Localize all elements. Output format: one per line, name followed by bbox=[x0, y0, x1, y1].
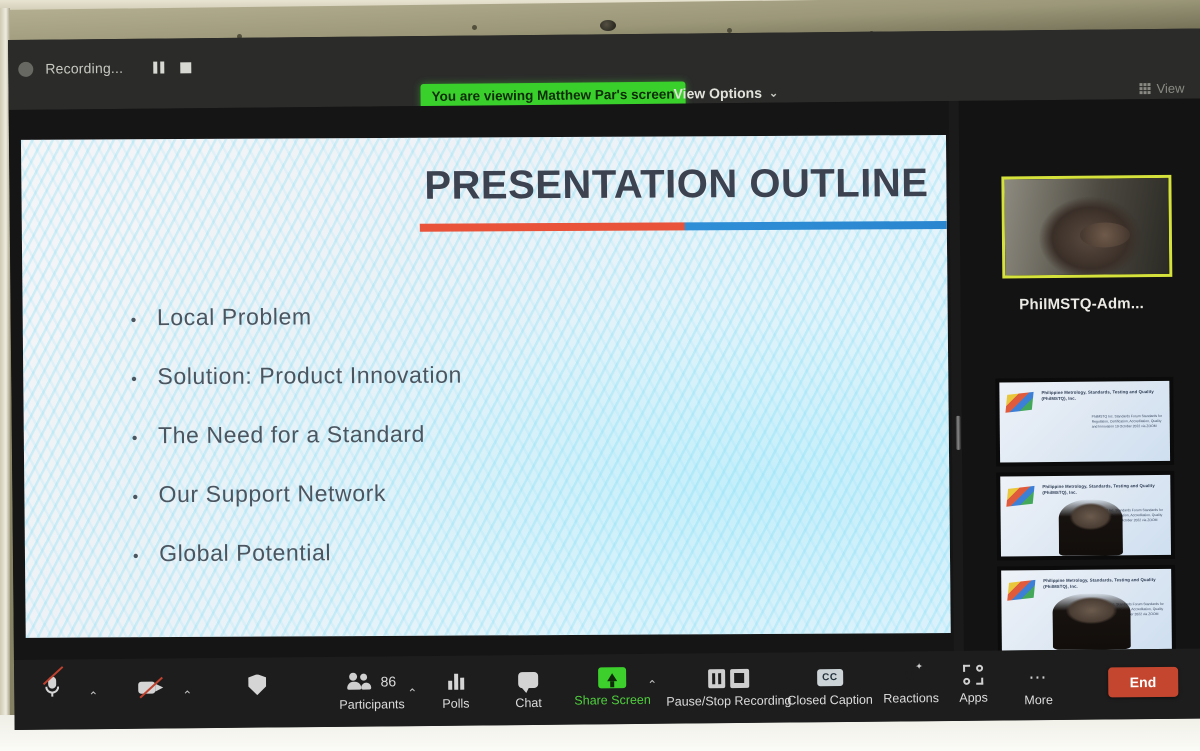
laptop-photo-frame: Recording... You are viewing Matthew Par… bbox=[0, 0, 1200, 751]
participant-thumbnail[interactable]: Philippine Metrology, Standards, Testing… bbox=[995, 377, 1174, 467]
participants-caret-icon[interactable]: ⌃ bbox=[407, 686, 417, 700]
bullet-dot-icon: • bbox=[132, 490, 138, 506]
participant-thumbnail[interactable]: Philippine Metrology, Standards, Testing… bbox=[996, 471, 1175, 561]
zoom-meeting-window: Recording... You are viewing Matthew Par… bbox=[8, 29, 1200, 730]
chat-button[interactable]: Chat bbox=[515, 669, 542, 710]
thumbnail-slide: Philippine Metrology, Standards, Testing… bbox=[1000, 475, 1171, 557]
recording-dot-icon bbox=[18, 61, 33, 76]
view-options-label: View Options bbox=[673, 85, 762, 102]
zoom-bottom-toolbar: ⌃ ⌃ 86 Participants ⌃ bbox=[14, 649, 1200, 730]
participants-label: Participants bbox=[339, 697, 404, 712]
recording-indicator-group: Recording... bbox=[18, 59, 191, 77]
view-button-label: View bbox=[1156, 81, 1184, 96]
bezel-dot bbox=[472, 25, 477, 30]
thumbnail-heading: Philippine Metrology, Standards, Testing… bbox=[1041, 389, 1164, 403]
people-icon: 86 bbox=[347, 670, 396, 692]
share-screen-label: Share Screen bbox=[574, 693, 651, 708]
list-item: • The Need for a Standard bbox=[132, 421, 463, 450]
speech-bubble-icon bbox=[518, 669, 538, 691]
smiley-reaction-icon: ✦ bbox=[901, 664, 921, 686]
thumbnail-slide: Philippine Metrology, Standards, Testing… bbox=[1001, 569, 1172, 651]
chevron-down-icon: ⌄ bbox=[769, 86, 778, 99]
audio-options-caret-icon[interactable]: ⌃ bbox=[88, 689, 98, 703]
security-button[interactable] bbox=[248, 674, 266, 701]
apps-button[interactable]: Apps bbox=[959, 664, 988, 705]
start-video-button[interactable] bbox=[138, 677, 164, 704]
video-options-caret-icon[interactable]: ⌃ bbox=[182, 688, 192, 702]
bullet-text: Solution: Product Innovation bbox=[157, 362, 462, 391]
philmstq-diamond-logo-icon bbox=[1007, 580, 1035, 601]
pause-stop-recording-icon bbox=[708, 667, 749, 689]
polls-label: Polls bbox=[442, 697, 469, 711]
recording-label: Recording... bbox=[45, 60, 123, 77]
video-off-icon bbox=[138, 677, 164, 699]
thumbnail-slide: Philippine Metrology, Standards, Testing… bbox=[999, 381, 1170, 463]
thumbnail-heading: Philippine Metrology, Standards, Testing… bbox=[1042, 483, 1165, 497]
chat-label: Chat bbox=[515, 696, 542, 710]
more-label: More bbox=[1024, 693, 1053, 707]
pause-recording-icon[interactable] bbox=[153, 62, 164, 74]
bullet-text: Our Support Network bbox=[158, 480, 386, 508]
active-speaker-name: PhilMSTQ-Adm... bbox=[961, 295, 1200, 314]
polls-button[interactable]: Polls bbox=[442, 670, 469, 711]
avatar bbox=[1004, 178, 1169, 276]
stop-recording-icon[interactable] bbox=[180, 62, 191, 73]
panel-resize-handle[interactable] bbox=[956, 416, 961, 450]
bar-chart-icon bbox=[448, 670, 464, 692]
participant-thumbnail[interactable]: Philippine Metrology, Standards, Testing… bbox=[997, 565, 1176, 655]
shared-screen-stage: PRESENTATION OUTLINE • Local Problem • S… bbox=[9, 101, 954, 660]
thumbnail-heading: Philippine Metrology, Standards, Testing… bbox=[1043, 577, 1166, 591]
philmstq-diamond-logo-icon bbox=[1005, 392, 1033, 413]
avatar bbox=[1058, 499, 1123, 556]
more-button[interactable]: ⋯ More bbox=[1024, 666, 1053, 707]
participants-button[interactable]: 86 Participants bbox=[339, 670, 405, 712]
recording-toolbar-label: Pause/Stop Recording bbox=[666, 694, 791, 709]
presentation-slide: PRESENTATION OUTLINE • Local Problem • S… bbox=[21, 135, 951, 638]
participants-count: 86 bbox=[380, 673, 396, 689]
active-speaker-tile[interactable] bbox=[1001, 175, 1172, 279]
participants-video-strip: PhilMSTQ-Adm... Philippine Metrology, St… bbox=[959, 99, 1200, 651]
reactions-label: Reactions bbox=[883, 691, 939, 706]
mute-button[interactable] bbox=[44, 676, 60, 703]
ellipsis-icon: ⋯ bbox=[1028, 666, 1048, 688]
end-meeting-button[interactable]: End bbox=[1108, 667, 1179, 698]
bullet-dot-icon: • bbox=[133, 549, 139, 565]
shield-icon bbox=[248, 674, 266, 696]
bullet-dot-icon: • bbox=[131, 313, 137, 329]
slide-title-divider bbox=[420, 221, 947, 232]
apps-icon bbox=[963, 664, 983, 686]
apps-label: Apps bbox=[959, 691, 988, 705]
reactions-button[interactable]: ✦ Reactions bbox=[883, 664, 939, 706]
list-item: • Global Potential bbox=[133, 539, 464, 568]
bullet-text: Local Problem bbox=[157, 303, 312, 331]
microphone-muted-icon bbox=[44, 676, 60, 698]
bullet-dot-icon: • bbox=[131, 372, 137, 388]
view-options-button[interactable]: View Options ⌄ bbox=[673, 85, 778, 102]
webcam-lens bbox=[600, 20, 616, 31]
bullet-text: Global Potential bbox=[159, 539, 331, 567]
share-screen-up-arrow-icon bbox=[598, 666, 626, 688]
grid-icon bbox=[1140, 83, 1151, 94]
slide-title: PRESENTATION OUTLINE bbox=[424, 161, 929, 209]
share-screen-button[interactable]: Share Screen bbox=[574, 666, 651, 708]
view-layout-button[interactable]: View bbox=[1139, 81, 1184, 96]
slide-bullet-list: • Local Problem • Solution: Product Inno… bbox=[131, 303, 464, 568]
list-item: • Solution: Product Innovation bbox=[131, 362, 462, 391]
thumbnail-subtext: PhilMSTQ Inc. Standards Forum Standards … bbox=[1092, 414, 1164, 430]
bullet-dot-icon: • bbox=[132, 431, 138, 447]
avatar bbox=[1052, 593, 1131, 650]
share-options-caret-icon[interactable]: ⌃ bbox=[647, 678, 657, 692]
bullet-text: The Need for a Standard bbox=[158, 421, 425, 449]
zoom-top-bar: Recording... You are viewing Matthew Par… bbox=[8, 29, 1200, 110]
list-item: • Our Support Network bbox=[132, 480, 463, 509]
pause-stop-recording-button[interactable]: Pause/Stop Recording bbox=[666, 667, 791, 709]
cc-icon: CC bbox=[817, 666, 843, 688]
list-item: • Local Problem bbox=[131, 303, 462, 332]
closed-caption-button[interactable]: CC Closed Caption bbox=[787, 666, 873, 708]
philmstq-diamond-logo-icon bbox=[1006, 486, 1034, 507]
closed-caption-label: Closed Caption bbox=[787, 693, 873, 708]
